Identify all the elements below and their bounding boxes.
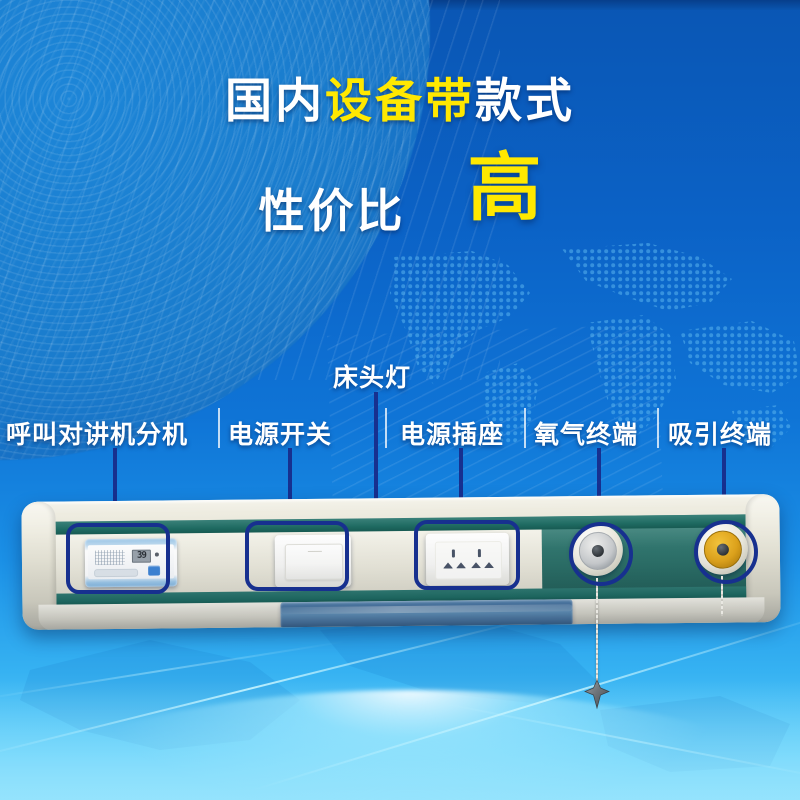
highlight-box-intercom [66,523,170,594]
label-divider-2 [385,408,387,448]
label-divider-3 [524,408,526,448]
callout-label-intercom: 呼叫对讲机分机 [6,415,188,451]
highlight-circle-oxygen [569,522,633,586]
label-divider-1 [218,408,220,448]
pull-cord-long[interactable] [596,600,598,682]
callout-labels: 呼叫对讲机分机 电源开关 床头灯 电源插座 氧气终端 吸引终端 [0,0,800,800]
callout-label-power-switch: 电源开关 [228,415,332,451]
promo-banner: 国内设备带款式 性价比高 呼叫对讲机分机 电源开关 床头灯 电源插座 氧气终端 … [0,0,800,800]
highlight-circle-suction [694,520,758,584]
cross-pendant-icon[interactable] [583,678,611,710]
highlight-box-power-socket [414,520,520,590]
callout-label-suction: 吸引终端 [668,415,772,451]
callout-label-bed-lamp: 床头灯 [333,358,411,394]
callout-label-power-socket: 电源插座 [400,415,504,451]
highlight-box-power-switch [245,521,349,591]
lamp-diffuser-icon[interactable] [280,599,572,628]
label-divider-4 [657,408,659,448]
callout-label-oxygen: 氧气终端 [534,415,638,451]
